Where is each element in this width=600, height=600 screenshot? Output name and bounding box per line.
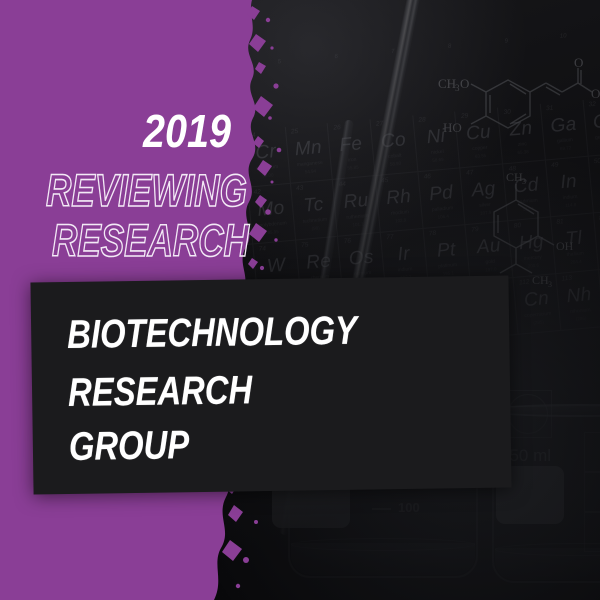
title-line-research: RESEARCH	[68, 370, 253, 413]
title-line-biotechnology: BIOTECHNOLOGY	[67, 311, 357, 355]
poster-canvas: 4 5 6 7 8 9 10 11 23Vvanadium50.94 24Crc…	[0, 0, 600, 600]
title-black-panel: BIOTECHNOLOGY RESEARCH GROUP	[30, 275, 511, 494]
title-line-group: GROUP	[69, 425, 190, 467]
